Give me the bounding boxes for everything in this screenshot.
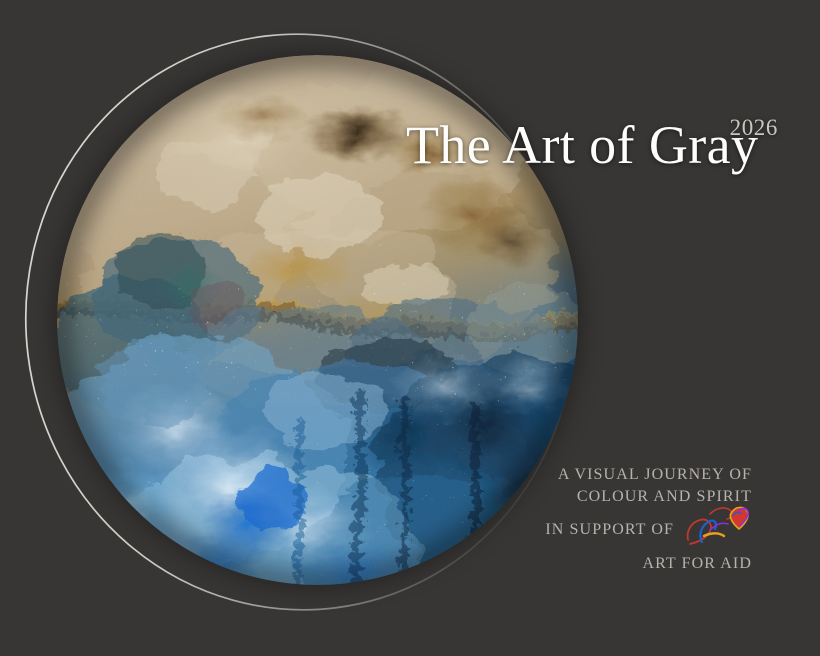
tagline-line-4: ART FOR AID — [520, 553, 752, 575]
cover-tagline: A VISUAL JOURNEY OF COLOUR AND SPIRIT IN… — [520, 464, 752, 575]
art-for-aid-logo-icon — [680, 500, 752, 546]
tagline-line-3-row: IN SUPPORT OF — [520, 507, 752, 553]
calendar-cover: The Art of Gray 2026 A VISUAL JOURNEY OF… — [0, 0, 820, 656]
cover-title-block: The Art of Gray 2026 — [406, 108, 778, 178]
title-year: 2026 — [730, 116, 778, 139]
page-title: The Art of Gray — [406, 114, 758, 176]
tagline-line-1: A VISUAL JOURNEY OF — [520, 464, 752, 486]
tagline-line-3: IN SUPPORT OF — [545, 519, 674, 541]
